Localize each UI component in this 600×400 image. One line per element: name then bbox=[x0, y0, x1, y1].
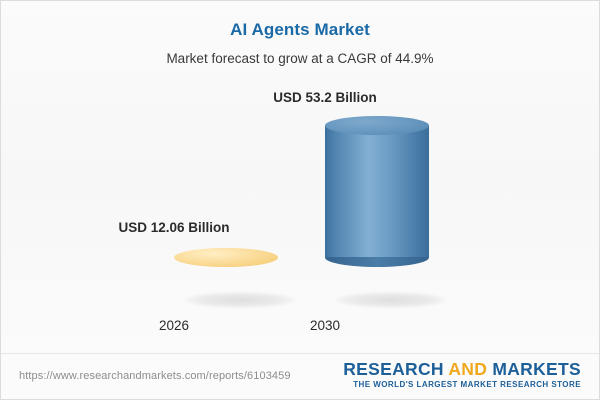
logo-word-markets: MARKETS bbox=[492, 359, 581, 379]
cylinder-top-ellipse bbox=[325, 116, 429, 135]
cylinder-2026[interactable] bbox=[174, 257, 298, 305]
logo-word-research: RESEARCH bbox=[343, 359, 444, 379]
chart-container: AI Agents Market Market forecast to grow… bbox=[0, 0, 600, 400]
logo-wordmark: RESEARCH AND MARKETS bbox=[343, 360, 581, 379]
cylinder-top-ellipse bbox=[174, 248, 278, 267]
category-label-2030: 2030 bbox=[215, 318, 435, 333]
logo-word-and: AND bbox=[448, 359, 487, 379]
value-label-2026: USD 12.06 Billion bbox=[64, 220, 284, 235]
logo-tagline: THE WORLD'S LARGEST MARKET RESEARCH STOR… bbox=[343, 379, 581, 390]
value-label-2030: USD 53.2 Billion bbox=[215, 90, 435, 105]
research-and-markets-logo[interactable]: RESEARCH AND MARKETS THE WORLD'S LARGEST… bbox=[343, 360, 581, 390]
source-url[interactable]: https://www.researchandmarkets.com/repor… bbox=[19, 370, 291, 382]
plot-area: USD 12.06 Billion 2026 USD 53.2 Billion bbox=[1, 1, 600, 353]
footer: https://www.researchandmarkets.com/repor… bbox=[1, 354, 599, 399]
cylinder-segment-base-2026 bbox=[174, 257, 278, 305]
cylinder-body bbox=[325, 125, 429, 257]
cylinder-segment-top-2030 bbox=[325, 125, 429, 257]
cylinder-2030[interactable] bbox=[325, 125, 449, 305]
